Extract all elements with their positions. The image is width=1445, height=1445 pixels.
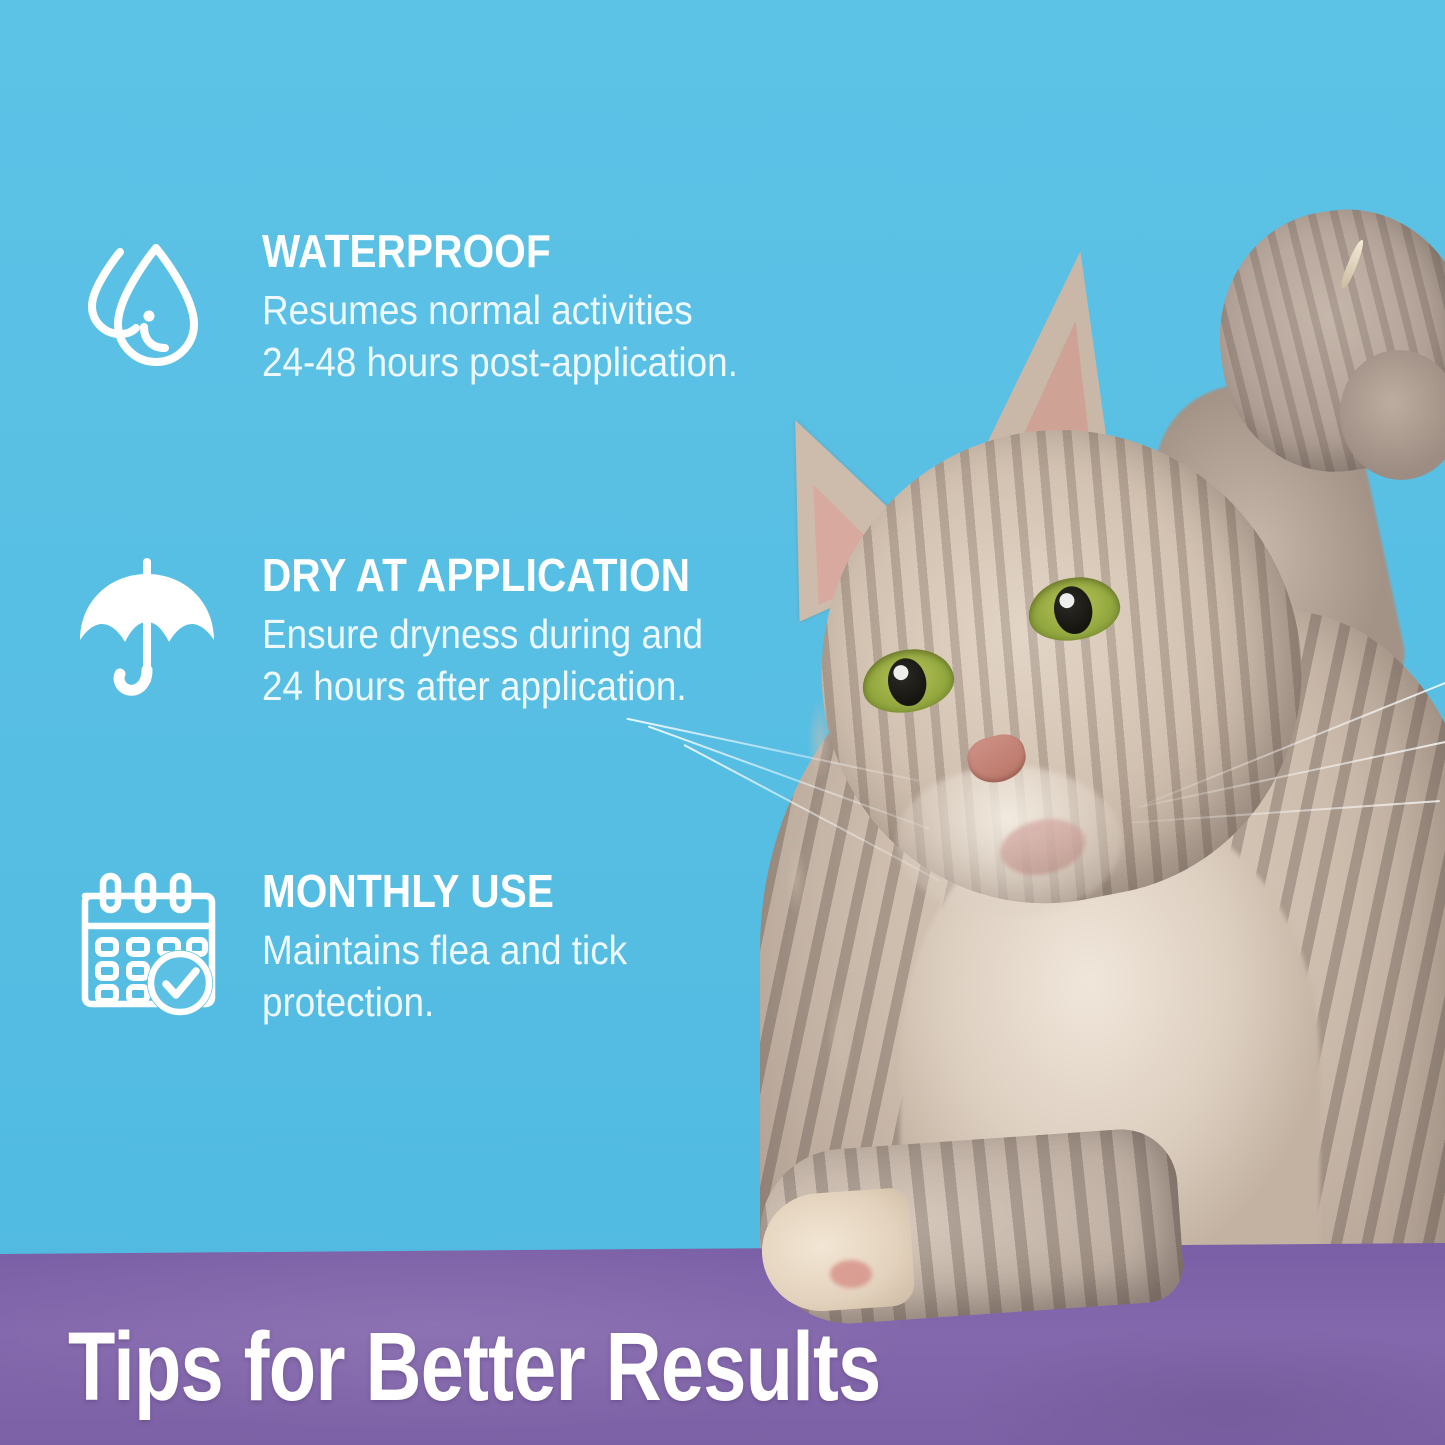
- feature-text: WATERPROOF Resumes normal activities 24-…: [262, 228, 882, 389]
- feature-body: Ensure dryness during and 24 hours after…: [262, 608, 820, 713]
- feature-body: Resumes normal activities 24-48 hours po…: [262, 284, 820, 389]
- feature-body-line: Ensure dryness during and: [262, 608, 820, 660]
- cat-pupil-left: [884, 655, 930, 709]
- feature-title: WATERPROOF: [262, 228, 808, 274]
- feature-title: MONTHLY USE: [262, 868, 808, 914]
- feature-body-line: 24-48 hours post-application.: [262, 336, 820, 388]
- feature-body-line: Resumes normal activities: [262, 284, 820, 336]
- banner-title: Tips for Better Results: [68, 1318, 880, 1415]
- feature-body-line: protection.: [262, 976, 820, 1028]
- feature-body: Maintains flea and tick protection.: [262, 924, 820, 1029]
- water-drop-icon: [72, 228, 222, 378]
- umbrella-icon: [72, 552, 222, 702]
- feature-body-line: 24 hours after application.: [262, 660, 820, 712]
- feature-body-line: Maintains flea and tick: [262, 924, 820, 976]
- feature-text: DRY AT APPLICATION Ensure dryness during…: [262, 552, 882, 713]
- cat-pupil-right: [1050, 583, 1096, 637]
- infographic-canvas: Tips for Better Results WATERPROOF Resum…: [0, 0, 1445, 1445]
- feature-text: MONTHLY USE Maintains flea and tick prot…: [262, 868, 882, 1029]
- feature-title: DRY AT APPLICATION: [262, 552, 808, 598]
- calendar-check-icon: [72, 868, 222, 1018]
